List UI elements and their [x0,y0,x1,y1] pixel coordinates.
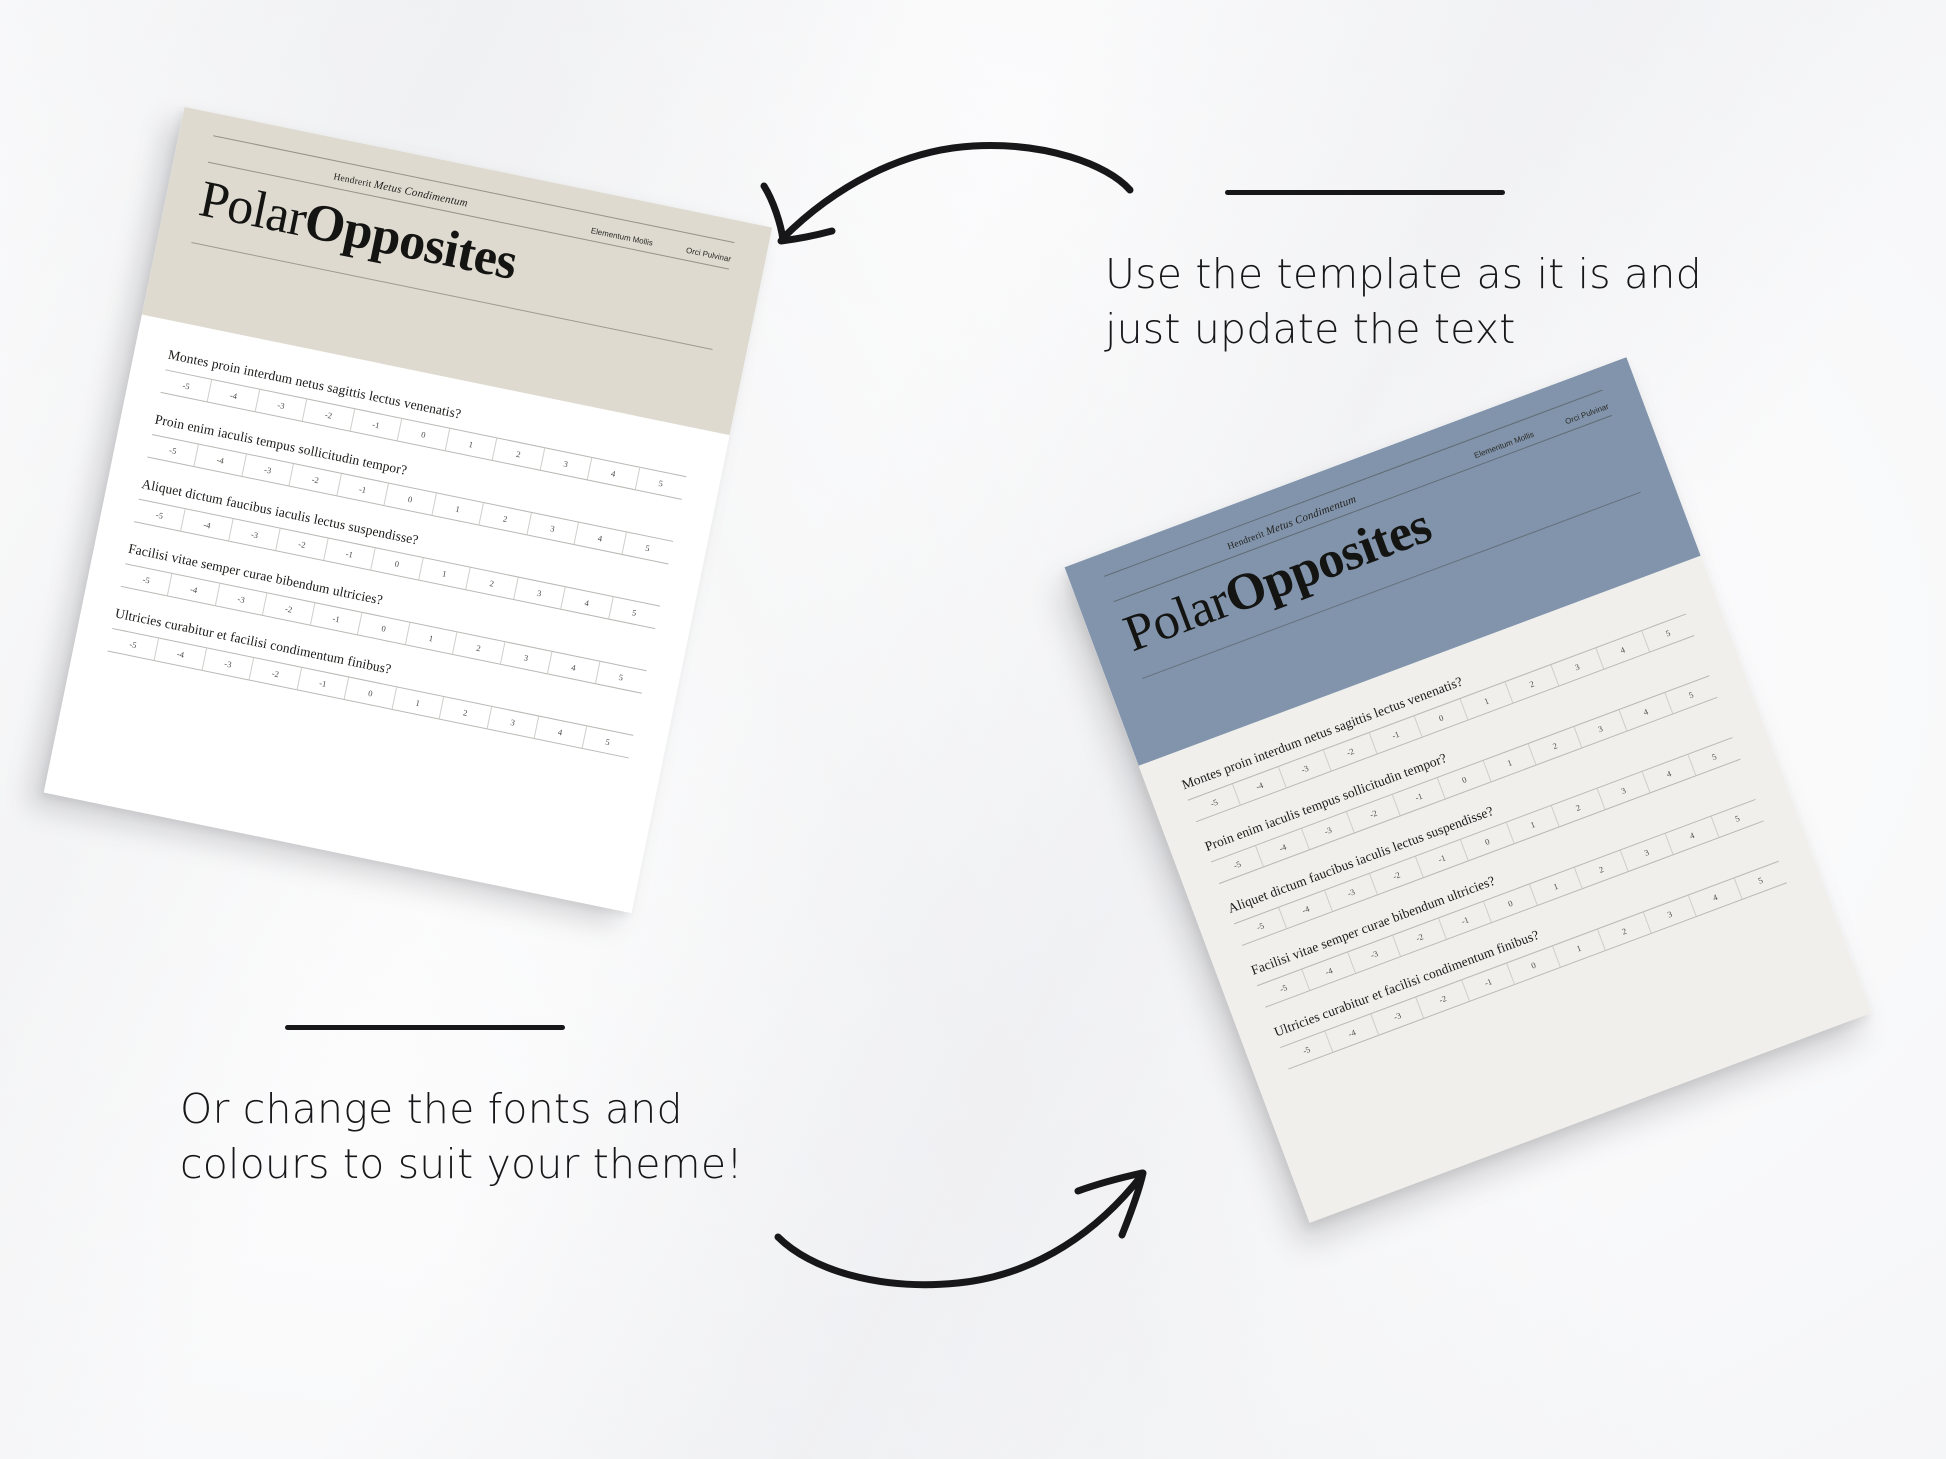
likert-scale-cell[interactable]: 0 [1506,947,1559,985]
likert-scale-cell[interactable]: 1 [445,429,497,460]
likert-scale-cell[interactable]: 4 [1596,631,1649,669]
likert-scale-cell[interactable]: 5 [621,532,673,563]
likert-scale-cell[interactable]: -5 [161,370,212,401]
likert-scale-cell[interactable]: 5 [1710,800,1763,838]
poster-canvas: Hendrerit Metus Condimentum Elementum Mo… [0,0,1946,1459]
likert-scale-cell[interactable]: 4 [1688,879,1741,917]
likert-scale-cell[interactable]: 1 [431,493,483,524]
likert-scale-cell[interactable]: -1 [1461,964,1514,1002]
likert-scale-cell[interactable]: -1 [1392,778,1445,816]
likert-scale-cell[interactable]: -2 [249,658,301,689]
likert-scale-cell[interactable]: -3 [1301,812,1354,850]
likert-scale-cell[interactable]: 0 [384,483,436,514]
likert-scale-cell[interactable]: -2 [1346,795,1399,833]
likert-scale-cell[interactable]: -2 [262,593,314,624]
likert-scale-cell[interactable]: 4 [587,458,639,489]
likert-scale-cell[interactable]: 1 [1506,806,1559,844]
callout-text: Use the template as it is and just updat… [1105,247,1702,356]
likert-scale-cell[interactable]: -4 [167,574,219,605]
likert-scale-cell[interactable]: 1 [1459,682,1512,720]
masthead-kicker-prefix: Hendrerit [332,172,372,190]
likert-scale-cell[interactable]: 2 [1597,913,1650,951]
likert-scale-cell[interactable]: 0 [1414,699,1467,737]
likert-scale-cell[interactable]: 1 [1483,744,1536,782]
likert-scale-cell[interactable]: 3 [1643,896,1696,934]
likert-scale-cell[interactable]: 2 [465,568,517,599]
curved-arrow-left-icon [715,128,1135,288]
masthead-meta-label-2: Orci Pulvinar [1564,402,1610,426]
likert-scale-cell[interactable]: 1 [1552,930,1605,968]
likert-scale-cell[interactable]: 5 [1687,738,1740,776]
likert-scale-cell[interactable]: 2 [1574,851,1627,889]
likert-scale-cell[interactable]: -2 [1369,857,1422,895]
likert-scale-cell[interactable]: -4 [1279,891,1332,929]
likert-scale-cell[interactable]: -3 [228,519,280,550]
likert-scale-cell[interactable]: 3 [539,448,591,479]
likert-scale-cell[interactable]: -1 [1438,902,1491,940]
likert-scale-cell[interactable]: 0 [397,419,449,450]
masthead-kicker-emphasis: Metus Condimentum [373,179,469,210]
likert-scale-cell[interactable]: 3 [1573,710,1626,748]
callout-text: Or change the fonts and colours to suit … [180,1082,743,1191]
likert-scale-cell[interactable]: 2 [1551,789,1604,827]
document-title-part1: Polar [195,170,312,247]
likert-scale-cell[interactable]: -2 [1416,980,1469,1018]
likert-scale-cell[interactable]: -5 [121,564,172,595]
callout-use-template: Use the template as it is and just updat… [1105,190,1702,356]
likert-scale-cell[interactable]: 1 [418,558,470,589]
curved-arrow-right-icon [770,1125,1190,1305]
likert-scale-cell[interactable]: -1 [296,668,348,699]
callout-change-fonts: Or change the fonts and colours to suit … [180,1025,743,1191]
likert-scale-cell[interactable]: -5 [147,435,198,466]
likert-scale-cell[interactable]: -3 [202,648,254,679]
likert-scale-cell[interactable]: 5 [608,597,660,628]
likert-scale-cell[interactable]: -4 [154,638,206,669]
likert-scale-cell[interactable]: -1 [1369,716,1422,754]
likert-scale-cell[interactable]: 3 [1596,772,1649,810]
likert-scale-cell[interactable]: -4 [1325,1014,1378,1052]
likert-scale-cell[interactable]: -4 [1232,767,1285,805]
likert-scale-cell[interactable]: 5 [1733,862,1786,900]
likert-scale-cell[interactable]: -2 [1393,919,1446,957]
likert-scale-cell[interactable]: 0 [1437,761,1490,799]
likert-scale-cell[interactable]: -1 [350,409,402,440]
likert-scale-cell[interactable]: -3 [255,390,307,421]
likert-scale-cell[interactable]: 4 [1665,817,1718,855]
likert-scale-cell[interactable]: 2 [1528,727,1581,765]
likert-scale-cell[interactable]: -4 [194,445,246,476]
likert-scale-cell[interactable]: -3 [1278,750,1331,788]
likert-scale-cell[interactable]: 3 [500,642,552,673]
likert-scale-cell[interactable]: 0 [344,677,396,708]
likert-scale-cell[interactable]: -4 [207,380,259,411]
likert-scale-cell[interactable]: 5 [581,726,633,757]
likert-scale-cell[interactable]: -1 [1415,840,1468,878]
likert-scale-cell[interactable]: 0 [1483,885,1536,923]
likert-scale-cell[interactable]: 1 [405,623,457,654]
likert-scale-cell[interactable]: 5 [1664,676,1717,714]
likert-scale-cell[interactable]: -1 [323,538,375,569]
likert-scale-cell[interactable]: -5 [108,629,159,660]
likert-scale-cell[interactable]: 3 [1550,648,1603,686]
likert-scale-cell[interactable]: 0 [357,613,409,644]
likert-scale-cell[interactable]: -3 [1347,936,1400,974]
likert-scale-cell[interactable]: 1 [391,687,443,718]
likert-scale-cell[interactable]: -4 [1302,953,1355,991]
likert-scale-cell[interactable]: 3 [513,577,565,608]
document-preview-beige[interactable]: Hendrerit Metus Condimentum Elementum Mo… [44,107,772,913]
likert-scale-cell[interactable]: -3 [215,584,267,615]
likert-scale-cell[interactable]: 2 [479,503,531,534]
likert-scale-cell[interactable]: 2 [1505,665,1558,703]
likert-scale-cell[interactable]: 2 [439,697,491,728]
likert-scale-cell[interactable]: -1 [336,474,388,505]
document-preview-blue[interactable]: Hendrerit Metus Condimentum Elementum Mo… [1064,357,1871,1223]
masthead-meta-label-1: Elementum Mollis [590,226,654,248]
likert-scale-cell[interactable]: 4 [1642,755,1695,793]
masthead-kicker-prefix: Hendrerit [1226,529,1266,552]
likert-scale-cell[interactable]: -4 [181,509,233,540]
callout-divider [285,1025,565,1030]
callout-divider [1225,190,1505,195]
likert-scale-cell[interactable]: 5 [595,661,647,692]
likert-scale-cell[interactable]: -2 [1323,733,1376,771]
likert-scale-cell[interactable]: -5 [134,500,185,531]
likert-scale-cell[interactable]: 3 [1620,834,1673,872]
likert-scale-cell[interactable]: -2 [276,529,328,560]
likert-scale-cell[interactable]: -2 [289,464,341,495]
likert-scale-cell[interactable]: 0 [370,548,422,579]
likert-scale-cell[interactable]: 2 [492,438,544,469]
likert-scale-cell[interactable]: 4 [1619,693,1672,731]
likert-scale-cell[interactable]: -5 [1280,1031,1332,1068]
likert-scale-cell[interactable]: -2 [302,399,354,430]
likert-scale-cell[interactable]: 3 [486,707,538,738]
likert-scale-cell[interactable]: -1 [310,603,362,634]
likert-scale-cell[interactable]: 3 [526,513,578,544]
likert-scale-cell[interactable]: 2 [452,632,504,663]
likert-scale-cell[interactable]: 4 [574,522,626,553]
likert-scale-cell[interactable]: -5 [1211,846,1263,883]
likert-scale-cell[interactable]: 4 [547,652,599,683]
likert-scale-cell[interactable]: 4 [560,587,612,618]
likert-scale-cell[interactable]: 0 [1460,823,1513,861]
likert-scale-cell[interactable]: -3 [241,454,293,485]
likert-scale-cell[interactable]: -5 [1257,970,1309,1007]
likert-scale-cell[interactable]: -4 [1256,829,1309,867]
likert-scale-cell[interactable]: -3 [1370,997,1423,1035]
likert-scale-cell[interactable]: 1 [1529,868,1582,906]
likert-scale-cell[interactable]: -5 [1188,784,1240,821]
likert-scale-cell[interactable]: 4 [534,716,586,747]
likert-scale-cell[interactable]: -3 [1324,874,1377,912]
likert-scale-cell[interactable]: 5 [1641,614,1694,652]
likert-scale-cell[interactable]: 5 [634,468,686,499]
likert-scale-cell[interactable]: -5 [1234,908,1286,945]
